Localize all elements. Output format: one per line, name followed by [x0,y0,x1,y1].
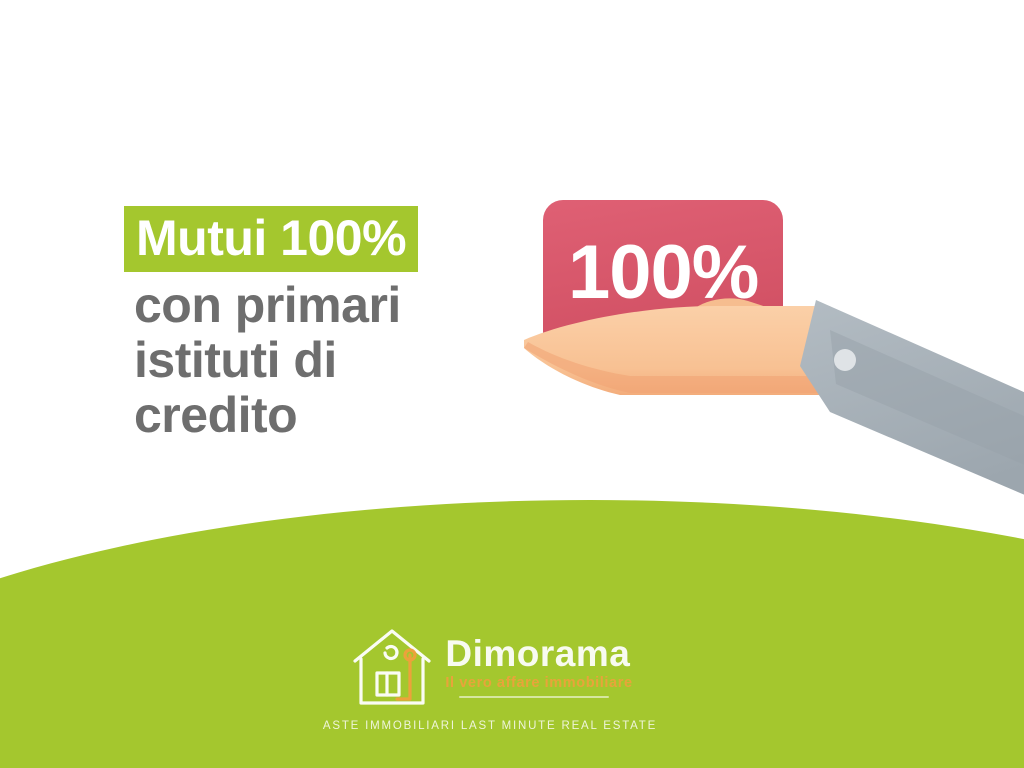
logo-wordmark: Dimorama [445,635,632,673]
headline-line-1: con primari [134,278,544,333]
headline-line-2: istituti di [134,333,544,388]
logo-text-column: Dimorama Il vero affare immobiliare [439,635,632,702]
brand-logo-lockup[interactable]: Dimorama Il vero affare immobiliare ASTE… [290,625,690,755]
headline-highlight-wrap: Mutui 100% [124,206,544,272]
logo-underline-rule [459,696,609,698]
promo-banner: 100% Mutui 100% con pr [0,0,1024,768]
sleeve-button-icon [834,349,856,371]
sleeve-icon [800,300,1024,510]
hand-holding-card-illustration: 100% [500,180,1024,580]
headline-subtext: con primari istituti di credito [124,278,544,443]
headline-line-3: credito [134,388,544,443]
headline-block: Mutui 100% con primari istituti di credi… [124,206,544,443]
logo-row: Dimorama Il vero affare immobiliare [290,625,690,711]
logo-subline: ASTE IMMOBILIARI LAST MINUTE REAL ESTATE [323,718,657,734]
logo-tagline: Il vero affare immobiliare [445,674,632,692]
headline-highlight: Mutui 100% [124,206,418,272]
house-outline-icon [347,625,439,711]
